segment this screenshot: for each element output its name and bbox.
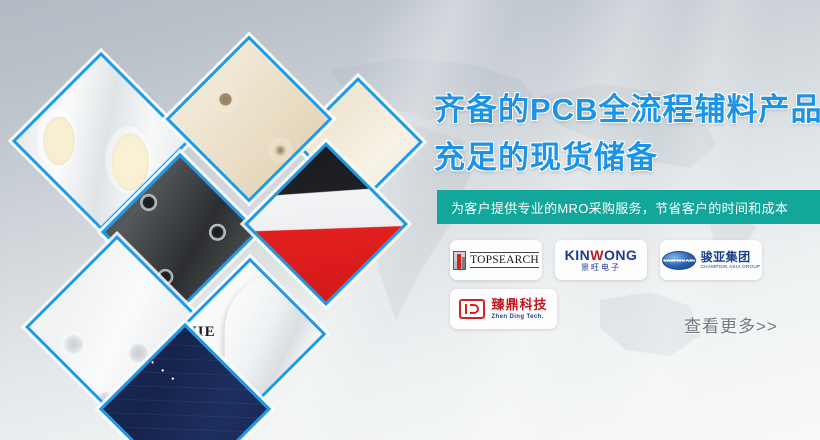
kinwong-name-en: KINWONG xyxy=(565,248,638,262)
partner-logo-topsearch[interactable]: TOPSEARCH xyxy=(450,240,542,280)
partner-logo-zhen-ding[interactable]: 臻鼎科技 Zhen Ding Tech. xyxy=(450,289,557,329)
banner-subtitle-band: 为客户提供专业的MRO采购服务，节省客户的时间和成本 xyxy=(437,190,820,224)
promo-banner: JIE 齐备的PCB全流程辅料产品、 充足的现货储备 为客户提供专业的MRO采购… xyxy=(0,0,820,440)
partner-logo-row-1: TOPSEARCH KINWONG 景旺电子 CHAMPION ASIA 骏亚集… xyxy=(450,240,810,280)
champion-name-en: CHAMPION ASIA GROUP xyxy=(701,265,761,270)
zhending-name-cn: 臻鼎科技 xyxy=(491,298,547,311)
globe-icon: CHAMPION ASIA xyxy=(662,251,696,270)
banner-headline: 齐备的PCB全流程辅料产品、 充足的现货储备 xyxy=(434,86,820,182)
zhending-name-en: Zhen Ding Tech. xyxy=(491,314,547,320)
product-image-collage: JIE xyxy=(0,0,430,440)
champion-name-cn: 骏亚集团 xyxy=(701,251,761,263)
headline-line-2: 充足的现货储备 xyxy=(434,134,820,182)
banner-subtitle-text: 为客户提供专业的MRO采购服务，节省客户的时间和成本 xyxy=(437,198,788,217)
view-more-link[interactable]: 查看更多>> xyxy=(684,312,778,337)
headline-line-1: 齐备的PCB全流程辅料产品、 xyxy=(434,92,820,127)
partner-logo-champion-asia[interactable]: CHAMPION ASIA 骏亚集团 CHAMPION ASIA GROUP xyxy=(660,240,762,280)
kinwong-name-cn: 景旺电子 xyxy=(581,263,621,272)
zhending-mark-icon xyxy=(459,299,485,319)
topsearch-mark-icon xyxy=(453,251,466,270)
globe-label: CHAMPION ASIA xyxy=(662,258,696,263)
partner-logo-kinwong[interactable]: KINWONG 景旺电子 xyxy=(555,240,647,280)
topsearch-name-en: TOPSEARCH xyxy=(470,252,539,268)
